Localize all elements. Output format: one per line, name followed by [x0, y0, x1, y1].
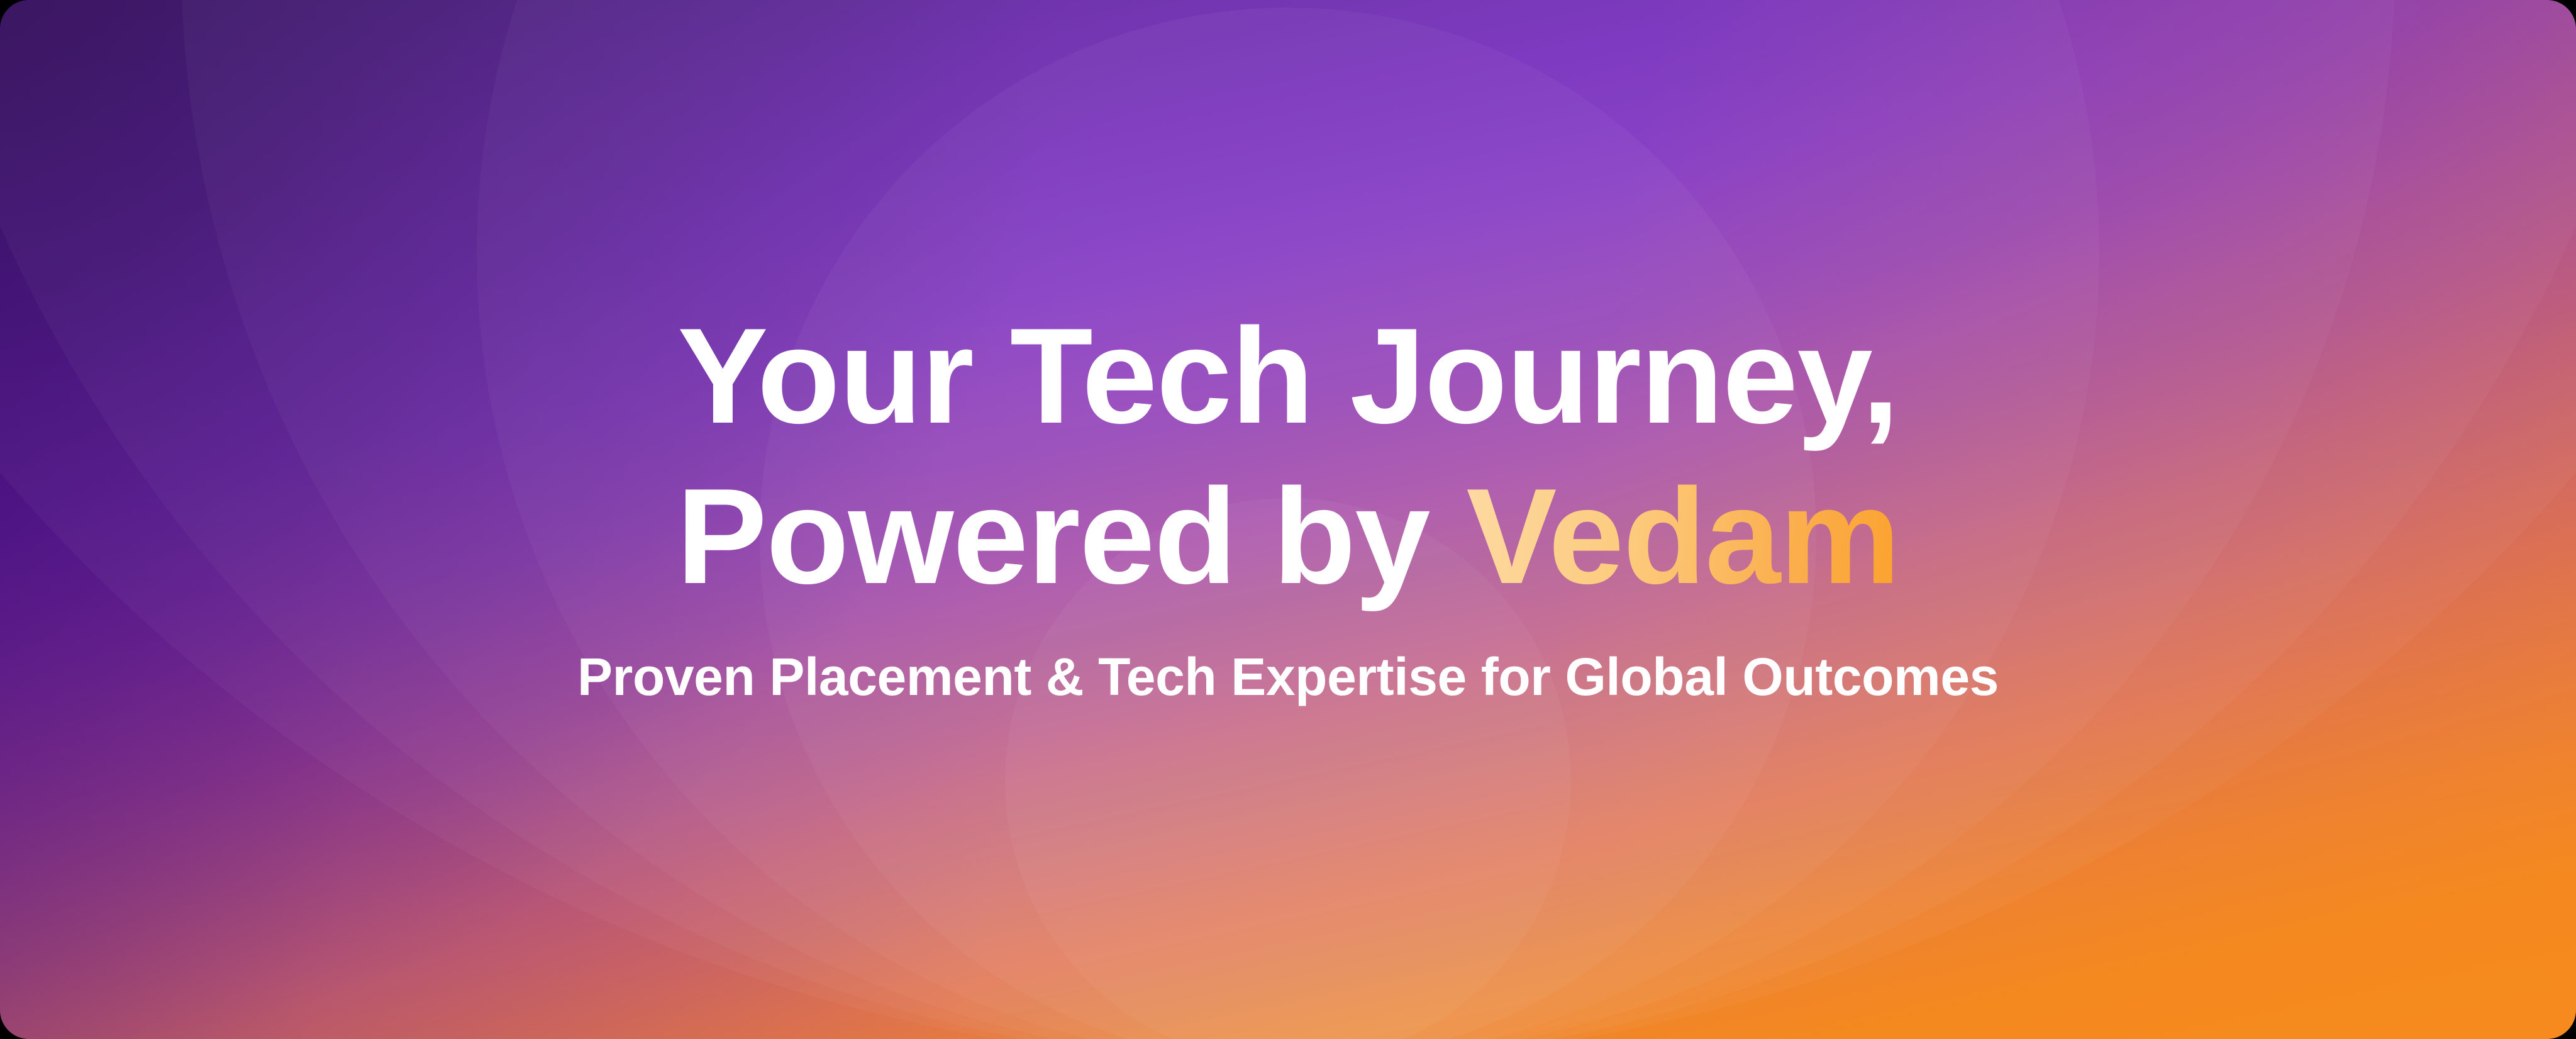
- brand-name-vedam: Vedam: [1466, 460, 1899, 612]
- hero-subtitle: Proven Placement & Tech Expertise for Gl…: [577, 645, 1999, 709]
- hero-heading-line-2: Powered by Vedam: [677, 456, 1900, 616]
- hero-content: Your Tech Journey, Powered by Vedam Prov…: [0, 0, 2576, 1039]
- hero-banner: Your Tech Journey, Powered by Vedam Prov…: [0, 0, 2576, 1039]
- hero-heading: Your Tech Journey, Powered by Vedam: [677, 296, 1900, 616]
- hero-heading-line-2-prefix: Powered by: [677, 460, 1467, 612]
- hero-heading-line-1: Your Tech Journey,: [677, 296, 1900, 456]
